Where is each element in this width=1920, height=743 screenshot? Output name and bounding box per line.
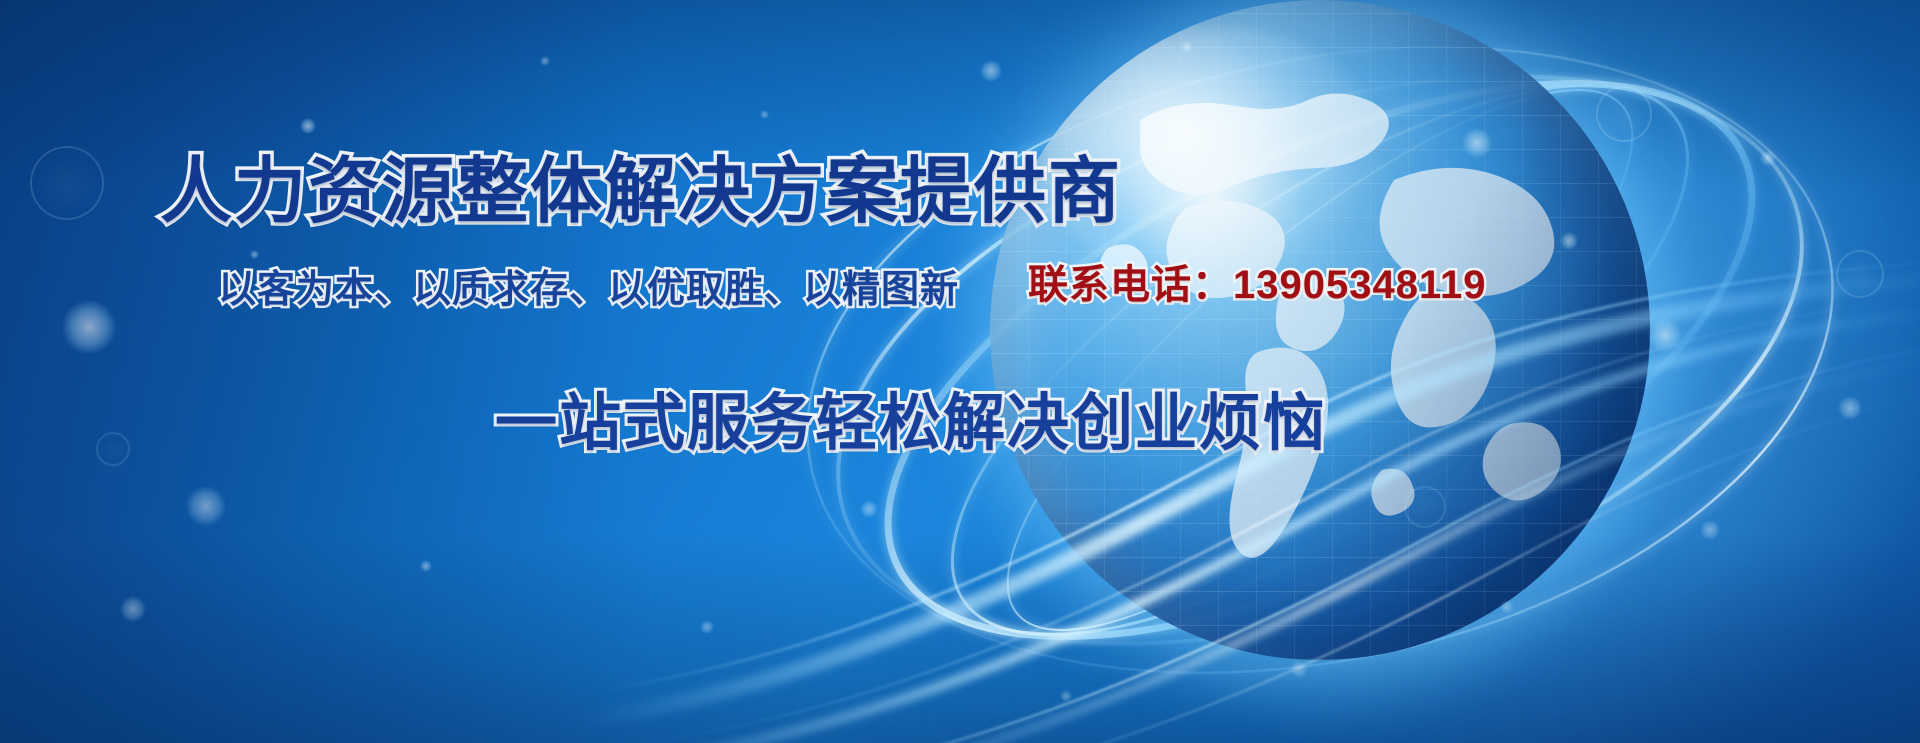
page-title: 人力资源整体解决方案提供商 [160, 132, 1122, 237]
hero-banner: 人力资源整体解决方案提供商 以客为本、以质求存、以优取胜、以精图新 联系电话：1… [0, 0, 1920, 743]
slogan-text: 以客为本、以质求存、以优取胜、以精图新 [218, 258, 959, 313]
service-tagline: 一站式服务轻松解决创业烦恼 [495, 372, 1327, 462]
contact-phone[interactable]: 联系电话：13905348119 [1028, 252, 1487, 310]
banner-text-layer: 人力资源整体解决方案提供商 以客为本、以质求存、以优取胜、以精图新 联系电话：1… [0, 0, 1920, 743]
